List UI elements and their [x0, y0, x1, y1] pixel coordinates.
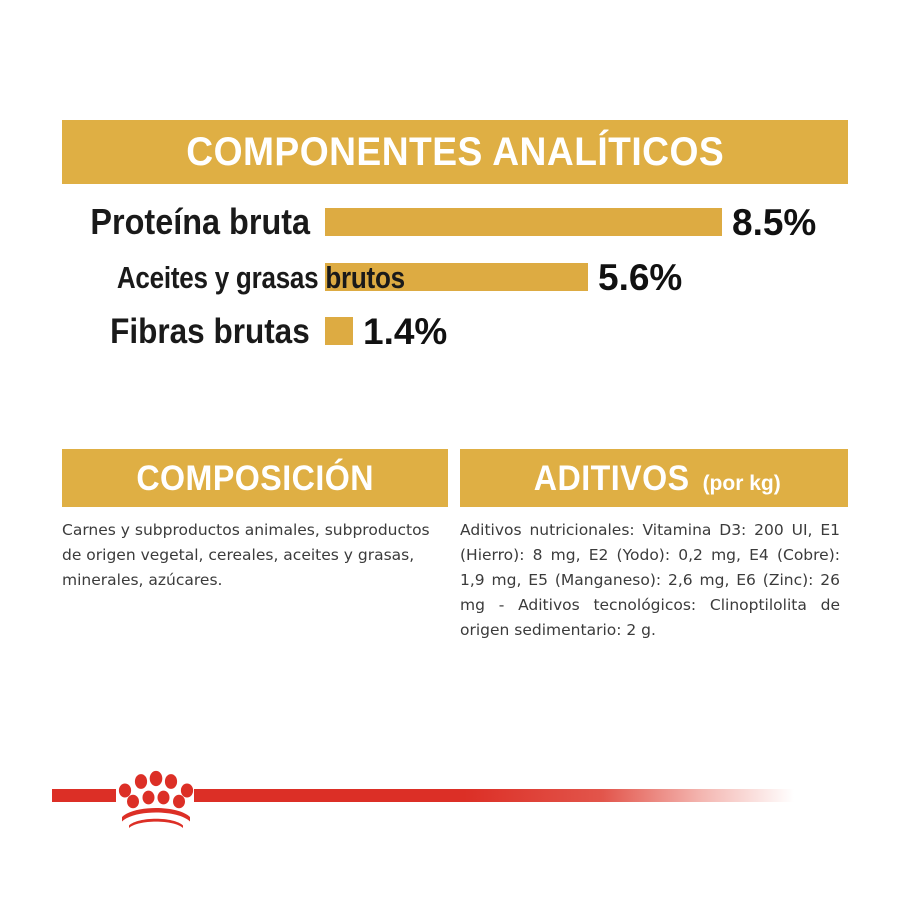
- footer-rule-right: [194, 789, 794, 802]
- additives-title-group: ADITIVOS (por kg): [527, 461, 780, 496]
- bar-value-fats: 5.6%: [598, 259, 682, 296]
- table-row: Proteína bruta 8.5%: [62, 196, 852, 248]
- additives-body-text: Aditivos nutricionales: Vitamina D3: 200…: [460, 518, 840, 644]
- composition-section-title: COMPOSICIÓN: [136, 461, 374, 496]
- footer-rule-left: [52, 789, 116, 802]
- bar-value-protein: 8.5%: [732, 204, 816, 241]
- bar-label-fibre: Fibras brutas: [62, 314, 325, 349]
- royal-canin-crown-icon: [116, 770, 196, 828]
- table-row: Fibras brutas 1.4%: [62, 306, 852, 356]
- analytics-section-header: COMPONENTES ANALÍTICOS: [62, 120, 848, 184]
- bar-track-fibre: 1.4%: [325, 313, 447, 350]
- bar-label-fats: Aceites y grasas brutos: [62, 262, 325, 293]
- additives-section-header: ADITIVOS (por kg): [460, 449, 848, 507]
- table-row: Aceites y grasas brutos 5.6%: [62, 251, 852, 303]
- additives-section-subtitle: (por kg): [703, 473, 781, 494]
- analytics-section-title: COMPONENTES ANALÍTICOS: [186, 132, 724, 172]
- additives-section-title: ADITIVOS: [534, 461, 690, 496]
- analytical-components-chart: Proteína bruta 8.5% Aceites y grasas bru…: [62, 196, 852, 356]
- bar-value-fibre: 1.4%: [363, 313, 447, 350]
- bar-fill-protein: [325, 208, 722, 236]
- bar-track-protein: 8.5%: [325, 204, 816, 241]
- bar-fill-fibre: [325, 317, 353, 345]
- bar-label-protein: Proteína bruta: [62, 204, 325, 240]
- footer-brand-strip: [0, 770, 900, 830]
- composition-body-text: Carnes y subproductos animales, subprodu…: [62, 518, 446, 593]
- composition-section-header: COMPOSICIÓN: [62, 449, 448, 507]
- nutrition-panel: COMPONENTES ANALÍTICOS Proteína bruta 8.…: [0, 0, 900, 900]
